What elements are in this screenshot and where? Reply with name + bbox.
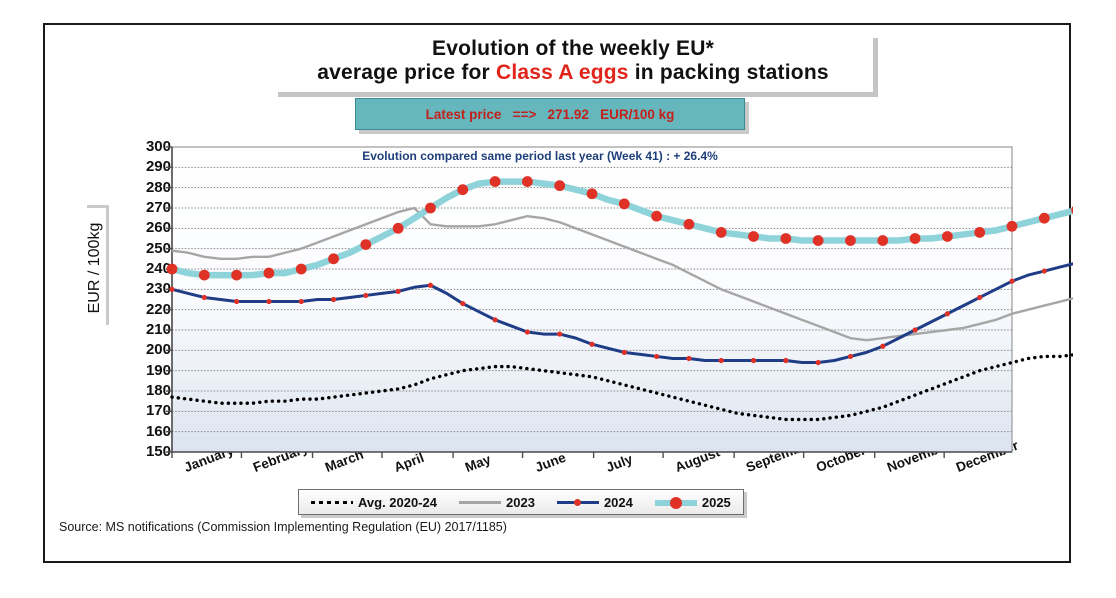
chart-legend: Avg. 2020-24 2023 2024 2025 [298, 489, 744, 515]
legend-swatch-2025-icon [655, 496, 697, 508]
legend-swatch-avg-icon [311, 496, 353, 508]
legend-swatch-2023-icon [459, 496, 501, 508]
legend-item-2024[interactable]: 2024 [557, 495, 633, 510]
chart-plot-area: EUR / 100kg 3002902802702602502402302202… [45, 25, 1073, 565]
chart-frame: Evolution of the weekly EU* average pric… [43, 23, 1071, 563]
legend-item-2023[interactable]: 2023 [459, 495, 535, 510]
legend-label-2024: 2024 [604, 495, 633, 510]
legend-label-avg: Avg. 2020-24 [358, 495, 437, 510]
legend-item-2025[interactable]: 2025 [655, 495, 731, 510]
chart-annotation: Evolution compared same period last year… [260, 149, 820, 163]
legend-swatch-2024-icon [557, 496, 599, 508]
legend-label-2023: 2023 [506, 495, 535, 510]
legend-item-avg[interactable]: Avg. 2020-24 [311, 495, 437, 510]
legend-label-2025: 2025 [702, 495, 731, 510]
source-note: Source: MS notifications (Commission Imp… [59, 520, 507, 534]
chart-canvas [45, 25, 1073, 565]
